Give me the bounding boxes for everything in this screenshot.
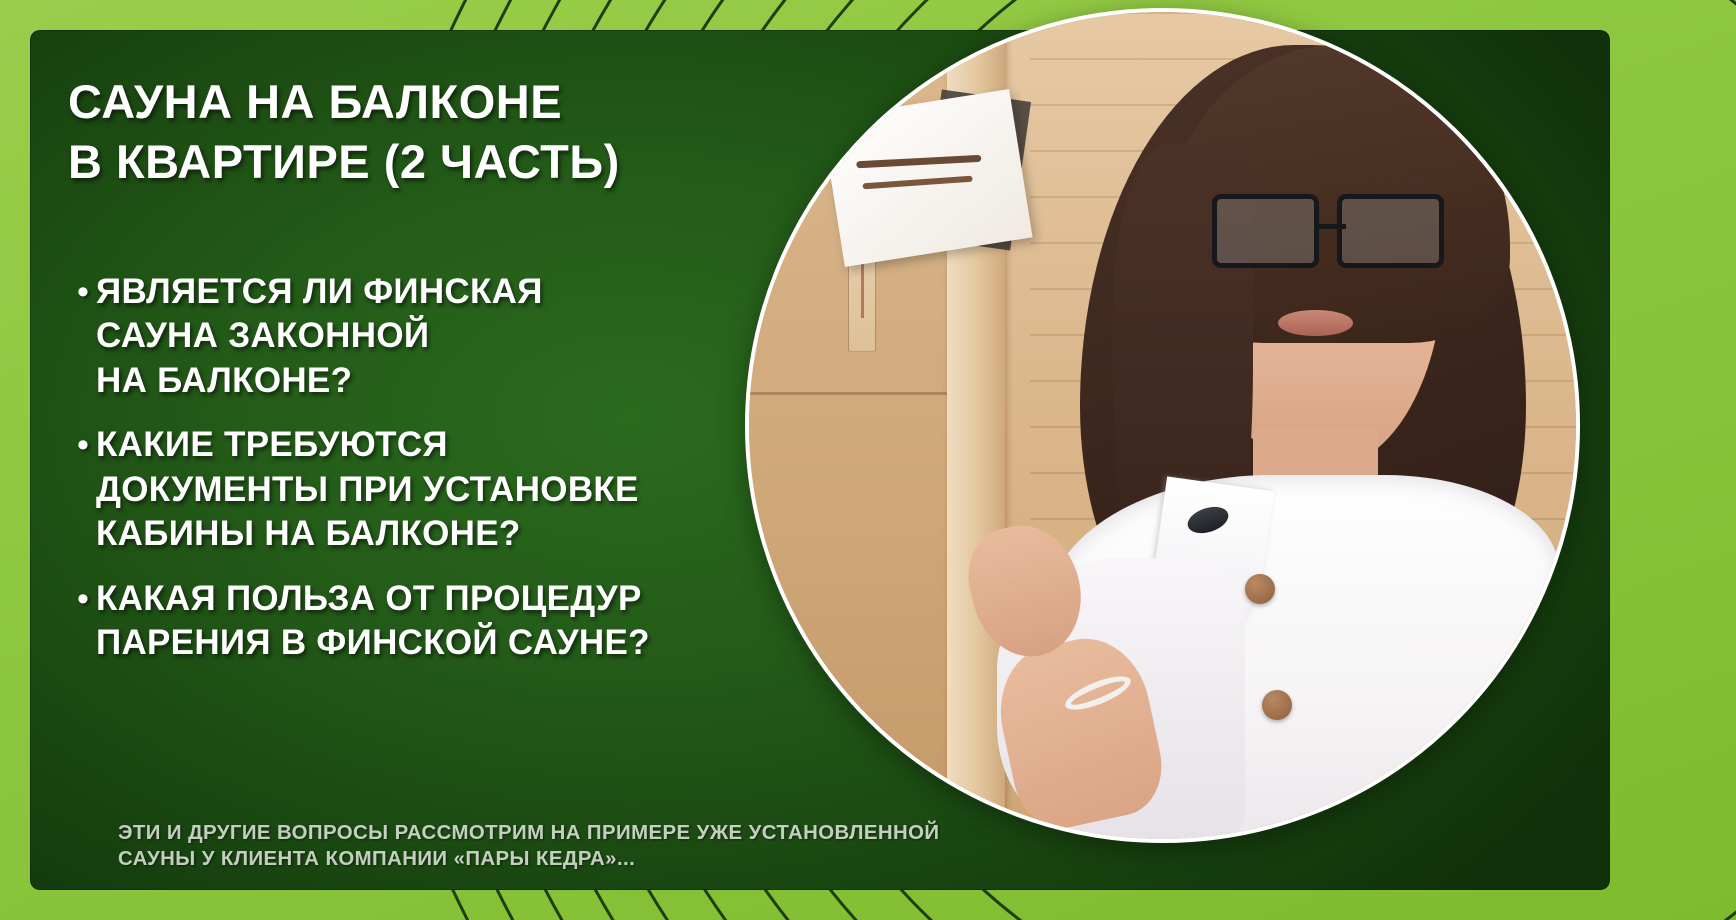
glasses-icon	[1212, 194, 1444, 268]
bullet-text: ЯВЛЯЕТСЯ ЛИ ФИНСКАЯ САУНА ЗАКОННОЙ НА БА…	[96, 270, 543, 403]
circular-photo	[745, 8, 1580, 843]
lips	[1278, 310, 1352, 336]
bullet-marker-icon: •	[70, 270, 96, 314]
list-item: • ЯВЛЯЕТСЯ ЛИ ФИНСКАЯ САУНА ЗАКОННОЙ НА …	[70, 270, 830, 403]
bullet-text: КАКИЕ ТРЕБУЮТСЯ ДОКУМЕНТЫ ПРИ УСТАНОВКЕ …	[96, 423, 639, 556]
bullet-marker-icon: •	[70, 423, 96, 467]
bullet-list: • ЯВЛЯЕТСЯ ЛИ ФИНСКАЯ САУНА ЗАКОННОЙ НА …	[70, 270, 830, 686]
thumbnail-banner: САУНА НА БАЛКОНЕ В КВАРТИРЕ (2 ЧАСТЬ) • …	[0, 0, 1736, 920]
bullet-text: КАКАЯ ПОЛЬЗА ОТ ПРОЦЕДУР ПАРЕНИЯ В ФИНСК…	[96, 577, 650, 666]
person-photo	[749, 12, 1576, 839]
bullet-marker-icon: •	[70, 577, 96, 621]
list-item: • КАКИЕ ТРЕБУЮТСЯ ДОКУМЕНТЫ ПРИ УСТАНОВК…	[70, 423, 830, 556]
list-item: • КАКАЯ ПОЛЬЗА ОТ ПРОЦЕДУР ПАРЕНИЯ В ФИН…	[70, 577, 830, 666]
page-title: САУНА НА БАЛКОНЕ В КВАРТИРЕ (2 ЧАСТЬ)	[68, 72, 768, 192]
